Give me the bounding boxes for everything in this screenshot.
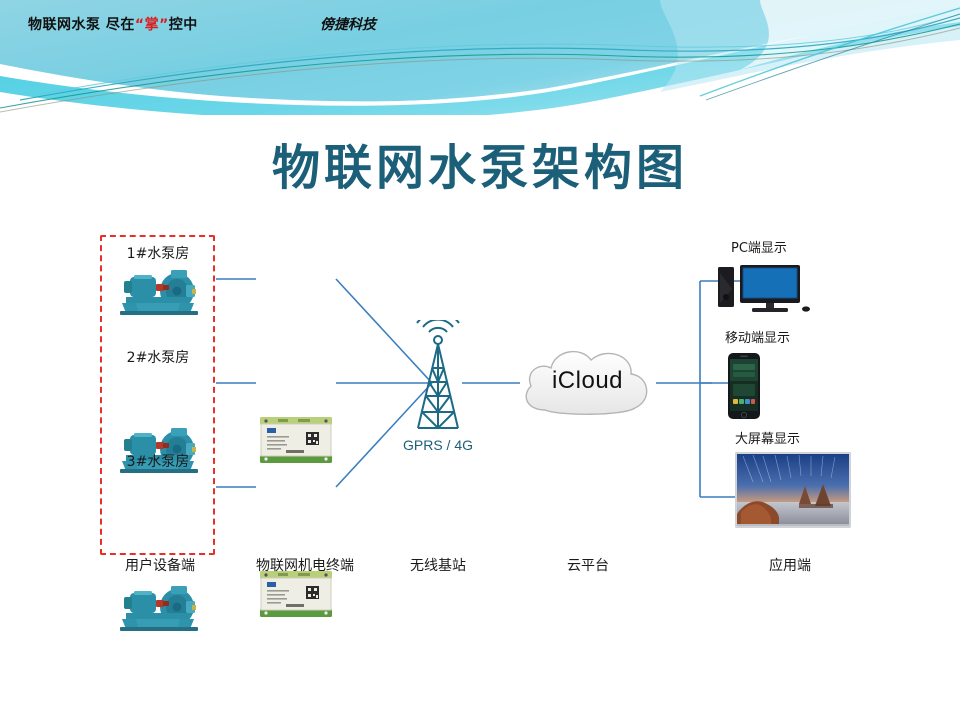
pump-icon-3 [114,583,200,637]
category-label-cloud-platform: 云平台 [528,555,648,575]
pump-node-2: 2#水泵房 [108,347,208,367]
pump-icon-1 [114,267,200,321]
category-label-user-equipment: 用户设备端 [100,555,220,575]
app-label-mobile: 移动端显示 [725,327,790,346]
pump-label-1: 1#水泵房 [108,243,208,263]
category-label-application: 应用端 [720,555,860,575]
slogan-quote-open: “ [135,17,145,33]
slide: 物联网水泵 尽在“掌”控中 傍捷科技 物联网水泵架构图 [0,0,960,720]
slogan-highlight: 掌 [145,17,160,33]
category-label-base-station: 无线基站 [378,555,498,575]
slogan-text-2: 控中 [169,17,198,33]
base-station-tower-icon [398,320,478,435]
mobile-display-icon [727,352,761,420]
app-label-pc: PC端显示 [731,237,787,256]
pc-display-icon [716,263,812,315]
pump-node-3: 3#水泵房 [108,451,208,471]
pump-label-3: 3#水泵房 [108,451,208,471]
slogan-quote-close: ” [159,17,169,33]
cloud-label: iCloud [515,367,660,395]
header-slogan: 物联网水泵 尽在“掌”控中 [28,14,198,34]
app-label-bigscreen: 大屏幕显示 [735,428,800,447]
category-row: 用户设备端 物联网机电终端 无线基站 云平台 应用端 [0,555,960,585]
base-station-label: GPRS / 4G [378,437,498,453]
brand-name: 傍捷科技 [320,14,376,34]
pump-label-2: 2#水泵房 [108,347,208,367]
category-label-iot-terminal: 物联网机电终端 [225,555,385,575]
slogan-text-1: 物联网水泵 尽在 [28,17,135,33]
page-title: 物联网水泵架构图 [0,128,960,198]
pump-node-1: 1#水泵房 [108,243,208,263]
iot-terminal-icon-1 [258,415,334,465]
bigscreen-display-icon [735,452,851,532]
